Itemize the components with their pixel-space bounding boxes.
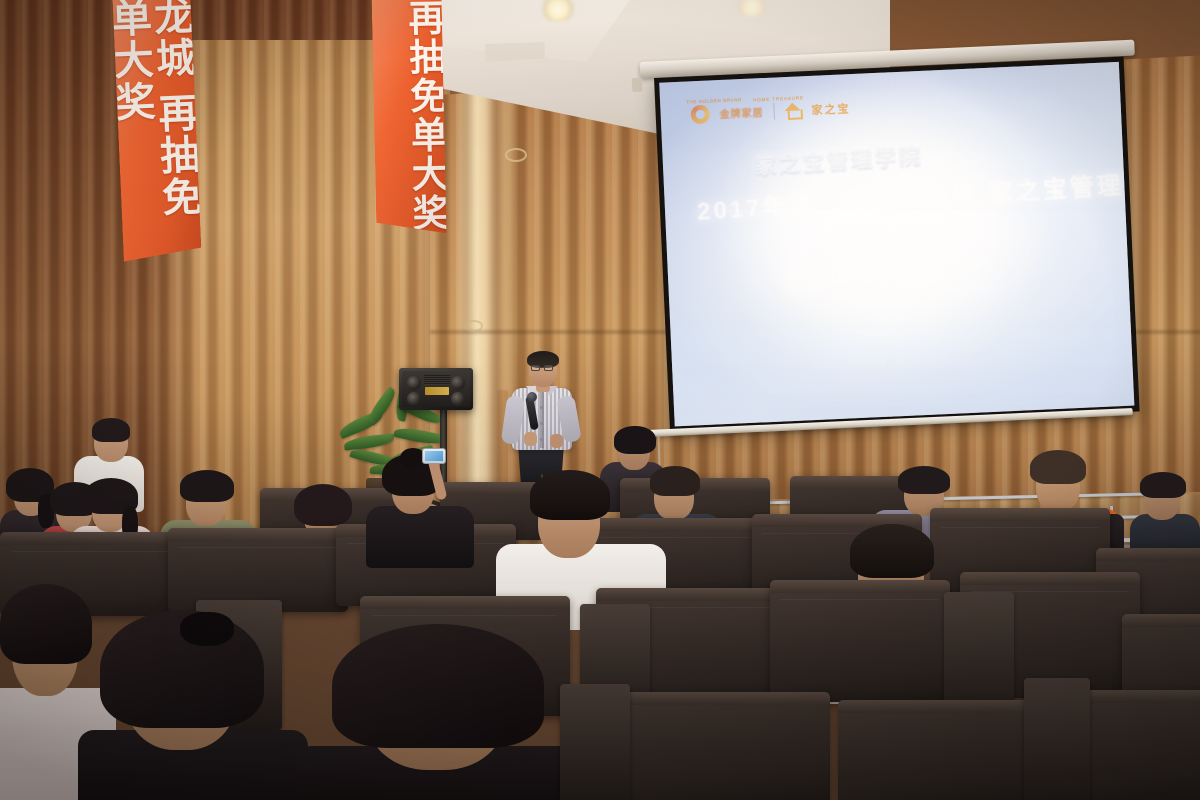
microphone-head-icon [527,392,537,402]
curtain-tieback-hook [465,320,483,332]
shirt-button [540,422,543,425]
logo-divider [773,103,775,120]
eyeglasses-icon [544,365,553,371]
person-hair [332,624,544,748]
seat-headrest [1096,548,1200,561]
person-torso [366,506,474,568]
speaker-driver-icon [407,392,421,406]
person-hair [898,466,950,494]
person-foreground-center [296,624,596,800]
plant-frond [365,387,399,426]
conference-hall-photo: 龙城 再抽免单大奖 再抽免单大奖 金牌家居 家之宝 THE GOLDEN BRA… [0,0,1200,800]
seat-headrest [360,596,570,609]
seat-crease [11,551,169,552]
projection-screen: 金牌家居 家之宝 THE GOLDEN BRAND HOME TREASURE … [640,62,1140,442]
person-hair [294,484,352,526]
screen-surface: 金牌家居 家之宝 THE GOLDEN BRAND HOME TREASURE … [659,62,1134,427]
brand-name-right: 家之宝 [811,100,851,118]
pa-speaker-face [402,371,470,407]
hanging-banner-left: 龙城 再抽免单大奖 [112,0,202,262]
person-hair [180,470,234,502]
swirl-logo-icon [690,105,710,125]
phone-screen [425,451,443,461]
hanging-banner-right: 再抽免单大奖 [371,0,446,235]
person-woman-taking-photo [366,450,476,568]
person-hair [1030,450,1086,484]
speaker-driver-icon [451,392,465,406]
presenter-right-hand [550,434,563,448]
person-far-right-edge [1130,470,1200,560]
person-hair [1140,472,1186,498]
curtain-gap-light [455,85,499,505]
banner-left-text: 龙城 再抽免单大奖 [112,0,202,262]
house-logo-icon [784,102,802,118]
wall-pillar [497,60,515,390]
screen-rail-endcap [632,78,643,92]
person-woman-bun-foreground-center [78,610,308,800]
person-hair-bun [180,612,234,646]
speaker-driver-icon [451,376,465,390]
speaker-grille [424,375,450,385]
person-hair [92,418,130,442]
plant-frond [393,425,444,447]
seat-armrest [560,684,630,800]
seat-headrest [930,508,1110,521]
pa-speaker [399,368,473,410]
seat-armrest [1024,678,1090,800]
seat-row3 [770,580,950,702]
speaker-brand-plate [425,387,449,395]
brand-name-left: 金牌家居 [719,104,764,121]
banner-right-text: 再抽免单大奖 [403,0,447,233]
person-hair [530,470,610,520]
seat-headrest [596,588,796,601]
seat-headrest [770,580,950,593]
person-hair [850,524,934,578]
smartphone-icon [422,448,446,464]
seat-headrest [0,532,180,545]
curtain-tieback-hook [505,148,527,162]
seat-headrest [168,528,348,541]
seat-crease [781,599,939,600]
eyeglasses-icon [531,365,540,371]
seat-crease [179,547,337,548]
shirt-button [540,406,543,409]
shirt-button [540,438,543,441]
eyeglasses-bridge [540,367,544,368]
person-hair [614,426,656,454]
screen-black-border: 金牌家居 家之宝 THE GOLDEN BRAND HOME TREASURE … [654,57,1140,433]
plant-frond [344,433,395,450]
speaker-driver-icon [407,376,421,390]
seat-headrest [1122,614,1200,627]
presenter-left-hand [524,432,537,446]
seat-crease [373,615,558,616]
seat-headrest [960,572,1140,585]
